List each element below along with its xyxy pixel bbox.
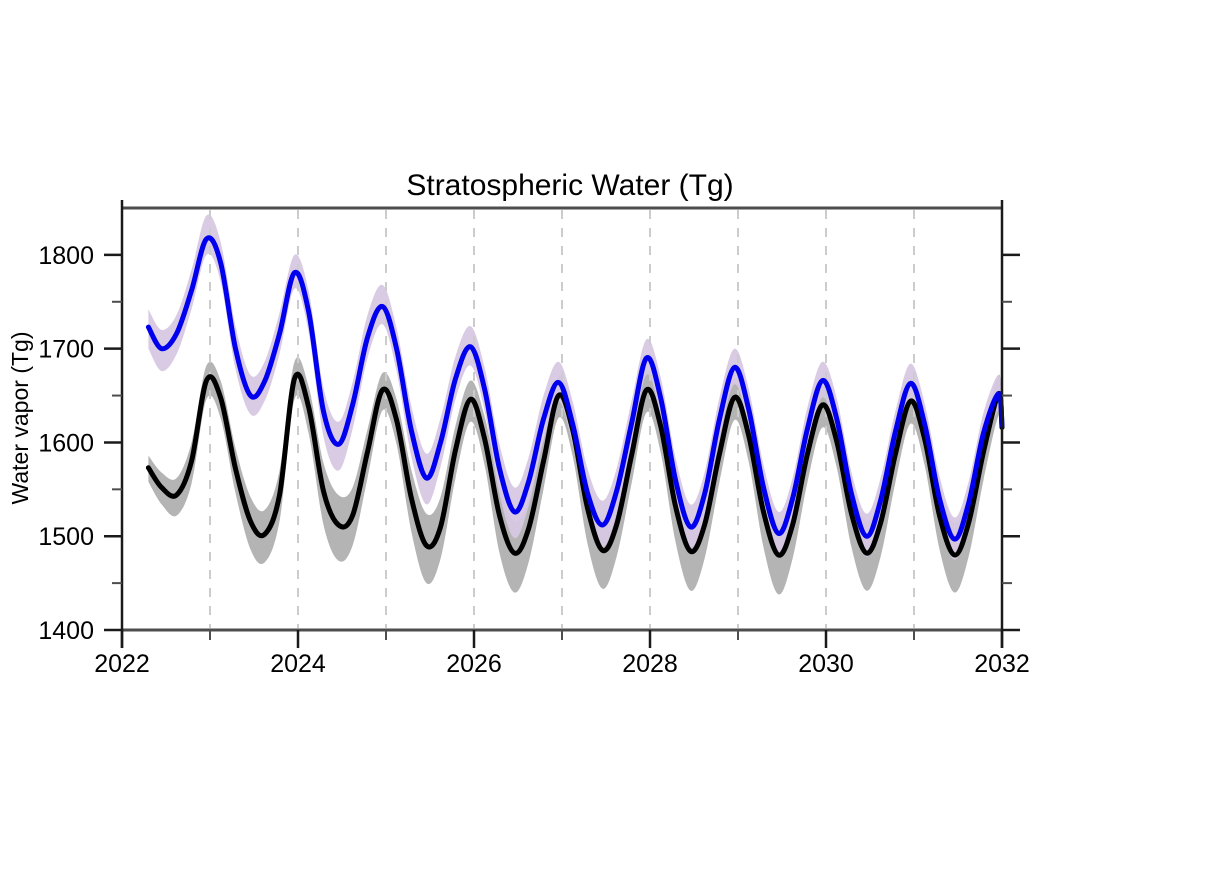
x-tick-label-2022: 2022 bbox=[94, 650, 150, 678]
chart-title: Stratospheric Water (Tg) bbox=[406, 169, 733, 202]
x-tick-label-2032: 2032 bbox=[974, 650, 1030, 678]
x-tick-label-2026: 2026 bbox=[446, 650, 502, 678]
x-tick-label-2028: 2028 bbox=[622, 650, 678, 678]
stratospheric-water-chart: 202220242026202820302032 140015001600170… bbox=[0, 0, 1225, 875]
y-tick-label-1500: 1500 bbox=[38, 523, 94, 551]
y-tick-label-1400: 1400 bbox=[38, 617, 94, 645]
x-tick-label-2030: 2030 bbox=[798, 650, 854, 678]
x-tick-label-2024: 2024 bbox=[270, 650, 326, 678]
control-uncertainty-band bbox=[148, 357, 1002, 594]
y-axis-label: Water vapor (Tg) bbox=[7, 332, 33, 505]
x-tick-labels: 202220242026202820302032 bbox=[94, 650, 1030, 678]
y-tick-label-1600: 1600 bbox=[38, 429, 94, 457]
y-tick-label-1800: 1800 bbox=[38, 242, 94, 270]
y-tick-labels: 14001500160017001800 bbox=[38, 242, 94, 645]
y-tick-label-1700: 1700 bbox=[38, 336, 94, 364]
figure-container: 202220242026202820302032 140015001600170… bbox=[0, 0, 1225, 875]
